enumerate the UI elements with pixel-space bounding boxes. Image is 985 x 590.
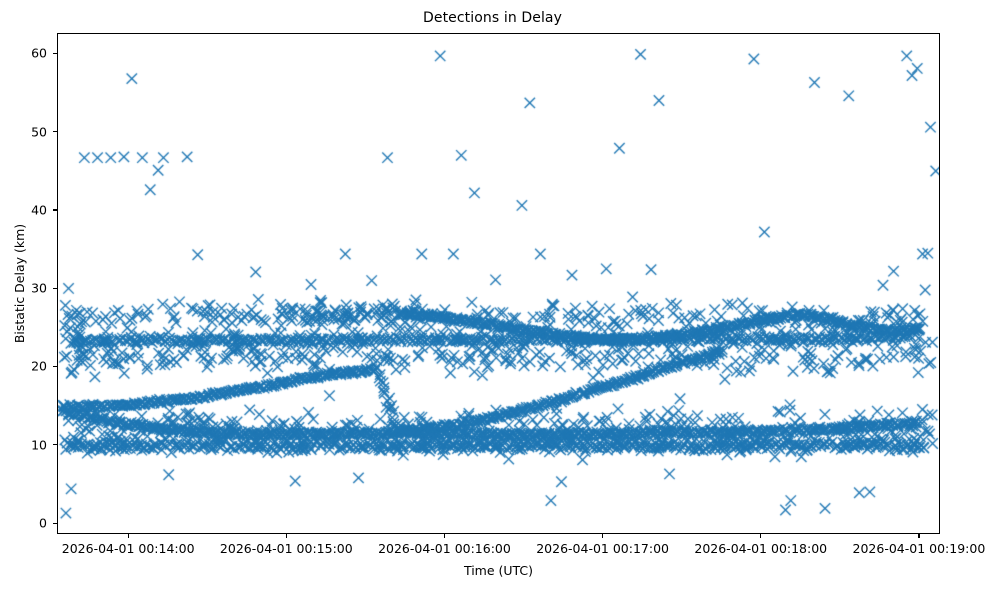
x-axis-label: Time (UTC): [57, 563, 940, 578]
y-tick-mark: [53, 209, 57, 210]
x-tick-mark: [760, 534, 761, 538]
y-tick-mark: [53, 366, 57, 367]
x-tick-label: 2026-04-01 00:18:00: [694, 541, 827, 556]
y-tick-mark: [53, 288, 57, 289]
chart-title: Detections in Delay: [0, 10, 985, 26]
y-tick-mark: [53, 523, 57, 524]
x-tick-mark: [444, 534, 445, 538]
x-tick-mark: [602, 534, 603, 538]
y-axis-label: Bistatic Delay (km): [12, 33, 30, 534]
y-tick-label: 60: [31, 46, 47, 61]
x-tick-mark: [286, 534, 287, 538]
x-tick-label: 2026-04-01 00:16:00: [378, 541, 511, 556]
x-tick-label: 2026-04-01 00:19:00: [853, 541, 985, 556]
y-tick-label: 30: [31, 281, 47, 296]
y-tick-label: 20: [31, 359, 47, 374]
y-tick-label: 0: [39, 516, 47, 531]
x-tick-mark: [918, 534, 919, 538]
y-tick-label: 40: [31, 202, 47, 217]
y-tick-label: 10: [31, 437, 47, 452]
y-tick-mark: [53, 53, 57, 54]
y-tick-label: 50: [31, 124, 47, 139]
x-tick-mark: [128, 534, 129, 538]
scatter-plot-canvas[interactable]: [58, 34, 940, 534]
y-tick-mark: [53, 444, 57, 445]
plot-axes-area[interactable]: [57, 33, 940, 534]
x-tick-label: 2026-04-01 00:15:00: [220, 541, 353, 556]
x-tick-label: 2026-04-01 00:14:00: [62, 541, 195, 556]
matplotlib-figure: Detections in Delay 0102030405060 Bistat…: [0, 0, 985, 590]
x-tick-label: 2026-04-01 00:17:00: [536, 541, 669, 556]
y-tick-mark: [53, 131, 57, 132]
